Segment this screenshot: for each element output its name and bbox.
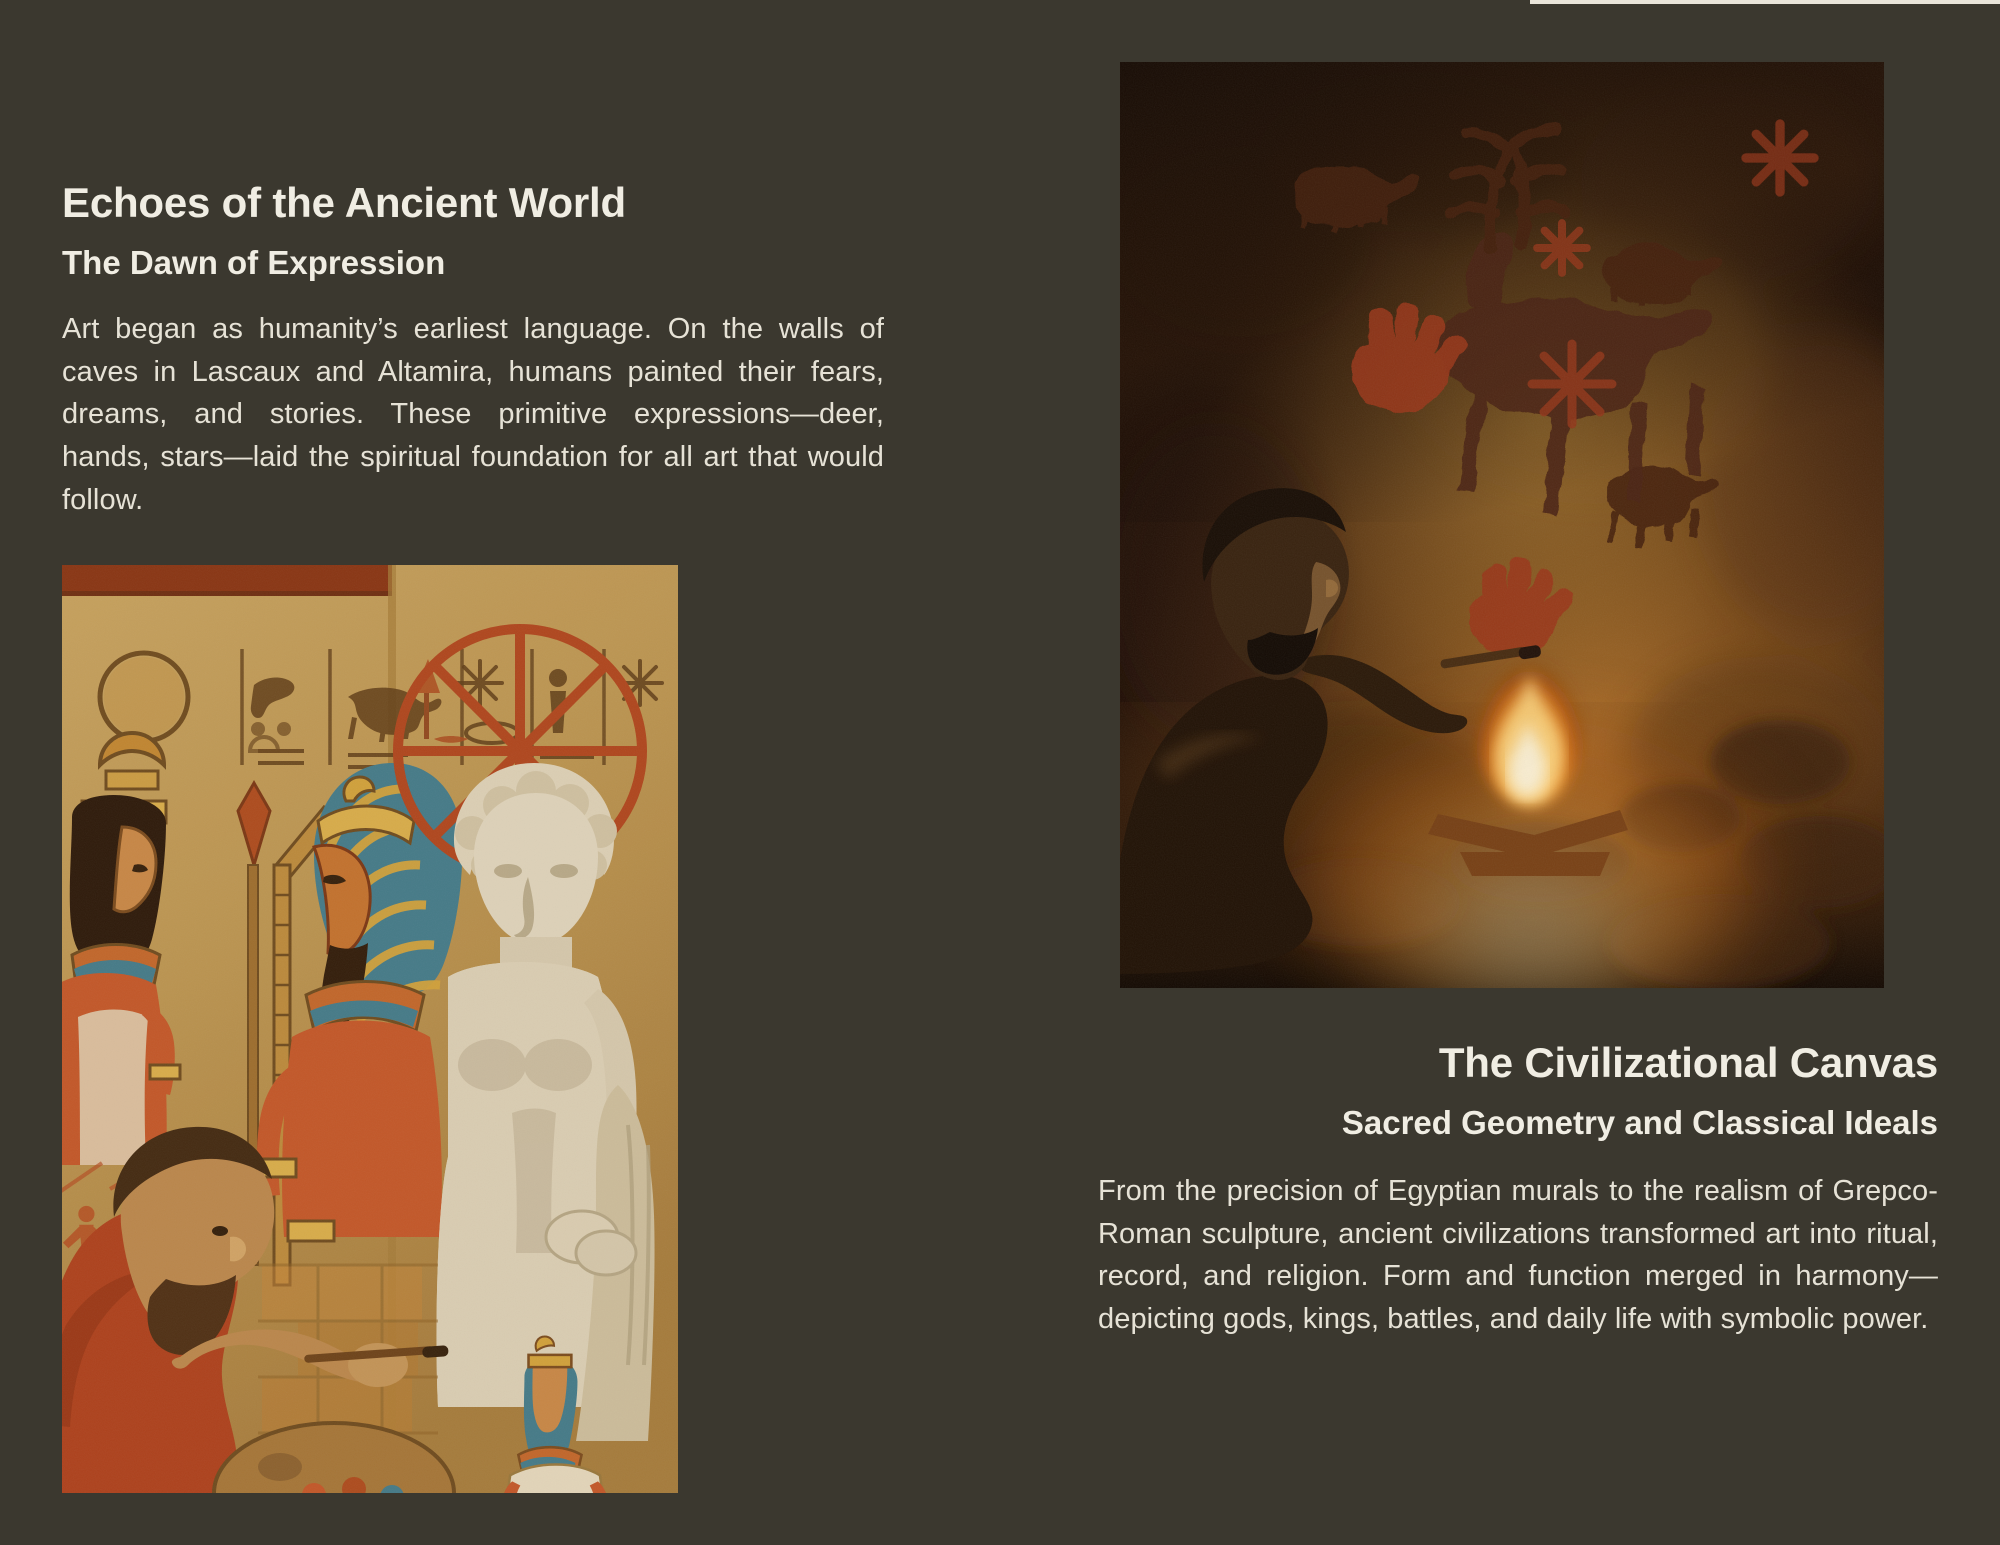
right-heading: The Civilizational Canvas bbox=[1098, 1040, 1938, 1086]
slide-root: Echoes of the Ancient World The Dawn of … bbox=[0, 0, 2000, 1545]
right-body-text: From the precision of Egyptian murals to… bbox=[1098, 1170, 1938, 1341]
right-text-block: The Civilizational Canvas Sacred Geometr… bbox=[1098, 1040, 1938, 1341]
cave-painting-image bbox=[1120, 62, 1884, 988]
left-subheading: The Dawn of Expression bbox=[62, 244, 884, 282]
mural-grain bbox=[62, 565, 678, 1493]
left-body-text: Art began as humanity’s earliest languag… bbox=[62, 308, 884, 521]
right-subheading: Sacred Geometry and Classical Ideals bbox=[1098, 1104, 1938, 1142]
top-edge-rule bbox=[1530, 0, 2000, 4]
left-heading: Echoes of the Ancient World bbox=[62, 180, 884, 226]
cave-grain bbox=[1120, 62, 1884, 988]
egyptian-mural-image bbox=[62, 565, 678, 1493]
left-text-block: Echoes of the Ancient World The Dawn of … bbox=[62, 180, 884, 521]
egyptian-mural-svg bbox=[62, 565, 678, 1493]
cave-painting-svg bbox=[1120, 62, 1884, 988]
